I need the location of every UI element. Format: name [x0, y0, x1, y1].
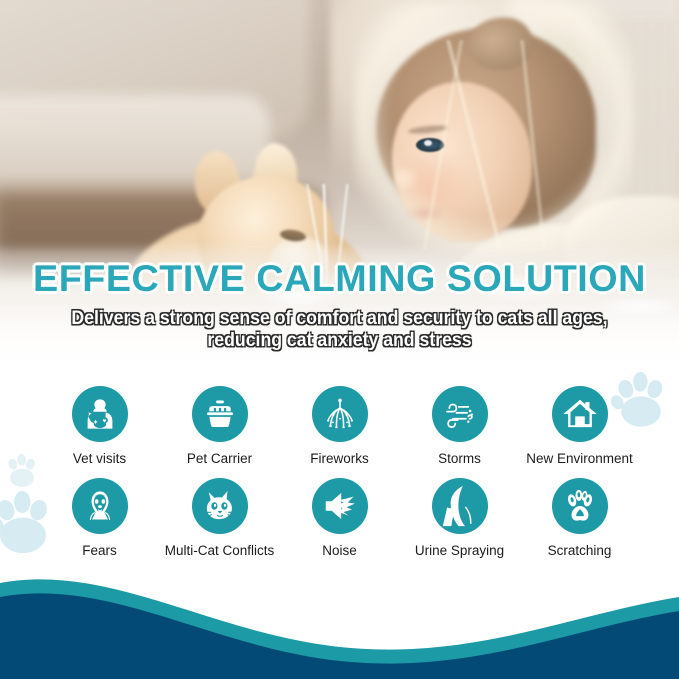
subtitle-line-2: reducing cat anxiety and stress	[24, 330, 655, 352]
page-title: EFFECTIVE CALMING SOLUTION	[0, 258, 679, 300]
benefit-scratching[interactable]: Scratching	[520, 478, 640, 558]
benefit-fears[interactable]: Fears	[40, 478, 160, 558]
benefit-label: Fears	[82, 543, 117, 558]
cat-face-icon-badge	[192, 478, 248, 534]
page-subtitle: Delivers a strong sense of comfort and s…	[24, 308, 655, 352]
benefit-vet-visits[interactable]: Vet visits	[40, 386, 160, 466]
promo-poster: EFFECTIVE CALMING SOLUTION Delivers a st…	[0, 0, 679, 679]
benefit-urine-spraying[interactable]: Urine Spraying	[400, 478, 520, 558]
storm-wind-icon	[441, 395, 479, 433]
fireworks-icon-badge	[312, 386, 368, 442]
paw-print-icon-badge	[552, 478, 608, 534]
benefit-label: Multi-Cat Conflicts	[165, 543, 275, 558]
fireworks-icon	[321, 395, 359, 433]
paw-print-icon	[562, 488, 598, 524]
fearful-cat-icon-badge	[72, 478, 128, 534]
benefit-noise[interactable]: Noise	[280, 478, 400, 558]
benefit-label: Scratching	[548, 543, 612, 558]
bottom-wave-decoration	[0, 575, 679, 679]
benefit-label: Fireworks	[310, 451, 369, 466]
benefit-fireworks[interactable]: Fireworks	[280, 386, 400, 466]
benefits-row-1: Vet visits	[0, 386, 679, 466]
benefit-label: Vet visits	[73, 451, 126, 466]
benefit-label: Noise	[322, 543, 357, 558]
subtitle-line-1: Delivers a strong sense of comfort and s…	[24, 308, 655, 330]
vet-visit-icon	[82, 396, 118, 432]
benefits-row-2: Fears	[0, 478, 679, 558]
speaker-noise-icon-badge	[312, 478, 368, 534]
speaker-noise-icon	[321, 487, 359, 525]
pet-carrier-icon-badge	[192, 386, 248, 442]
cat-face-icon	[200, 486, 240, 526]
benefit-storms[interactable]: Storms	[400, 386, 520, 466]
urine-spraying-icon-badge	[432, 478, 488, 534]
toddler-hair-halo	[354, 4, 634, 254]
urine-spraying-icon	[437, 483, 483, 529]
benefit-label: Pet Carrier	[187, 451, 252, 466]
benefits-grid: Vet visits	[0, 386, 679, 558]
house-icon	[561, 395, 599, 433]
wave-navy-layer	[0, 593, 679, 679]
vet-visit-icon-badge	[72, 386, 128, 442]
benefit-label: Urine Spraying	[415, 543, 504, 558]
benefit-multi-cat-conflicts[interactable]: Multi-Cat Conflicts	[160, 478, 280, 558]
benefit-pet-carrier[interactable]: Pet Carrier	[160, 386, 280, 466]
benefit-label: New Environment	[526, 451, 633, 466]
pet-carrier-icon	[202, 396, 238, 432]
benefit-new-environment[interactable]: New Environment	[520, 386, 640, 466]
storm-wind-icon-badge	[432, 386, 488, 442]
fearful-cat-icon	[82, 488, 118, 524]
benefit-label: Storms	[438, 451, 481, 466]
house-icon-badge	[552, 386, 608, 442]
